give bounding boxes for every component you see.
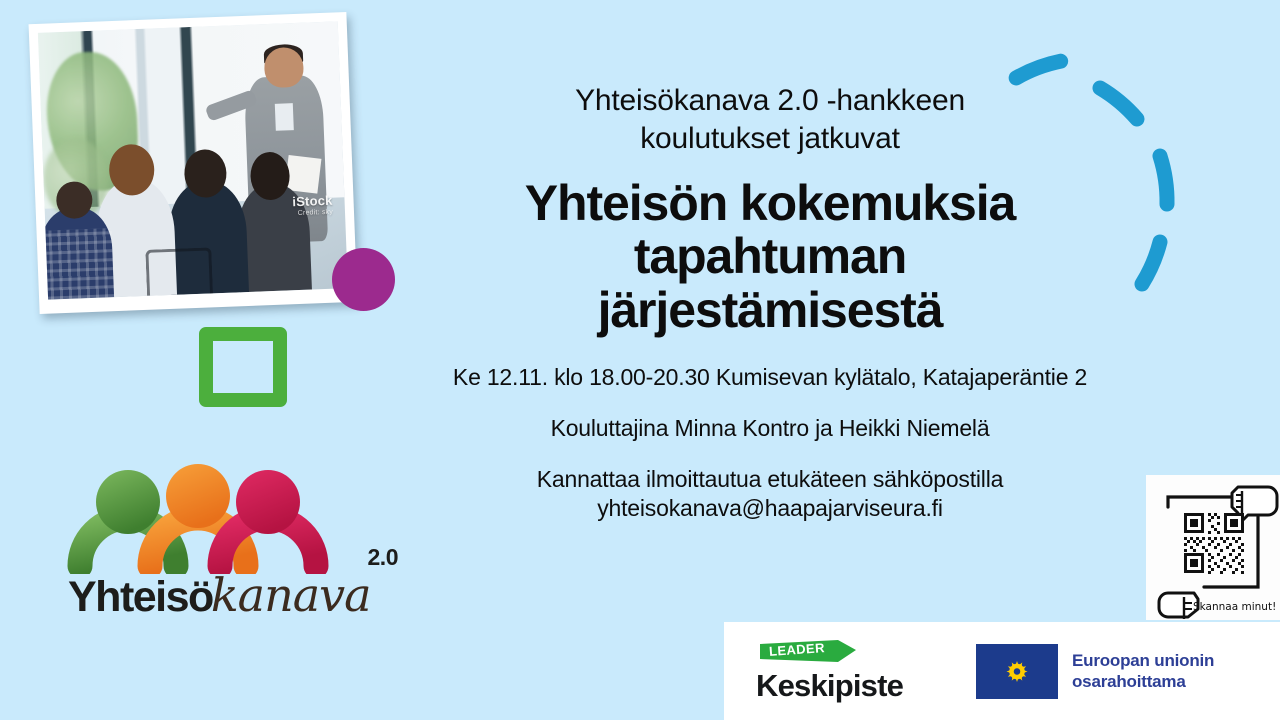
istock-watermark: iStock Credit: sky	[292, 194, 333, 219]
funding-footer: LEADER Keskipiste	[724, 622, 1280, 720]
kicker-line-2: koulutukset jatkuvat	[640, 122, 899, 155]
photo-presenter-badge	[275, 103, 294, 130]
event-signup-instructions: Kannattaa ilmoittautua etukäteen sähköpo…	[420, 465, 1120, 523]
kicker-text: Yhteisökanava 2.0 -hankkeen koulutukset …	[420, 82, 1120, 159]
photo-presenter-paper	[285, 154, 322, 192]
istock-watermark-credit: Credit: sky	[293, 209, 333, 219]
yhteisokanava-logo: 2.0 Yhteisökanava	[62, 462, 392, 632]
logo-version-label: 2.0	[368, 544, 398, 571]
qr-matrix	[1184, 513, 1244, 574]
poster-canvas: iStock Credit: sky Yhteisökanava 2.0 -ha…	[0, 0, 1280, 720]
poster-text-column: Yhteisökanava 2.0 -hankkeen koulutukset …	[420, 82, 1120, 523]
leader-badge: LEADER	[758, 638, 860, 664]
qr-code-label: Skannaa minut!	[1193, 601, 1276, 613]
seminar-photo-frame: iStock Credit: sky	[29, 12, 358, 314]
headline-line-2: tapahtuman	[634, 228, 906, 284]
eu-funding-logo: Euroopan unionin osarahoittama	[976, 644, 1214, 699]
logo-wordmark: Yhteisökanava	[68, 568, 371, 622]
logo-wordmark-part2: kanava	[211, 568, 371, 622]
seminar-photo: iStock Credit: sky	[38, 21, 348, 299]
headline-line-3: järjestämisestä	[598, 282, 943, 338]
leader-keskipiste-logo: LEADER Keskipiste	[756, 638, 952, 704]
headline-line-1: Yhteisön kokemuksia	[525, 175, 1015, 231]
eu-funding-text: Euroopan unionin osarahoittama	[1072, 650, 1214, 693]
logo-people-icon	[62, 462, 362, 574]
event-trainers: Kouluttajina Minna Kontro ja Heikki Niem…	[420, 414, 1120, 443]
eu-funding-text-line2: osarahoittama	[1072, 672, 1186, 691]
qr-code-card[interactable]: Skannaa minut!	[1146, 475, 1280, 620]
istock-watermark-label: iStock	[292, 193, 333, 210]
logo-wordmark-part1: Yhteisö	[68, 573, 213, 621]
keskipiste-label: Keskipiste	[756, 668, 952, 704]
photo-plaid-shirt	[39, 228, 114, 300]
purple-circle-decoration	[332, 248, 395, 311]
event-time-and-place: Ke 12.11. klo 18.00-20.30 Kumisevan kylä…	[420, 363, 1120, 392]
eu-flag-icon	[976, 644, 1058, 699]
kicker-line-1: Yhteisökanava 2.0 -hankkeen	[575, 84, 965, 117]
page-title: Yhteisön kokemuksia tapahtuman järjestäm…	[420, 177, 1120, 338]
green-square-decoration	[199, 327, 287, 407]
photo-presenter-head	[264, 47, 305, 89]
eu-funding-text-line1: Euroopan unionin	[1072, 651, 1214, 670]
photo-chair	[145, 248, 213, 296]
